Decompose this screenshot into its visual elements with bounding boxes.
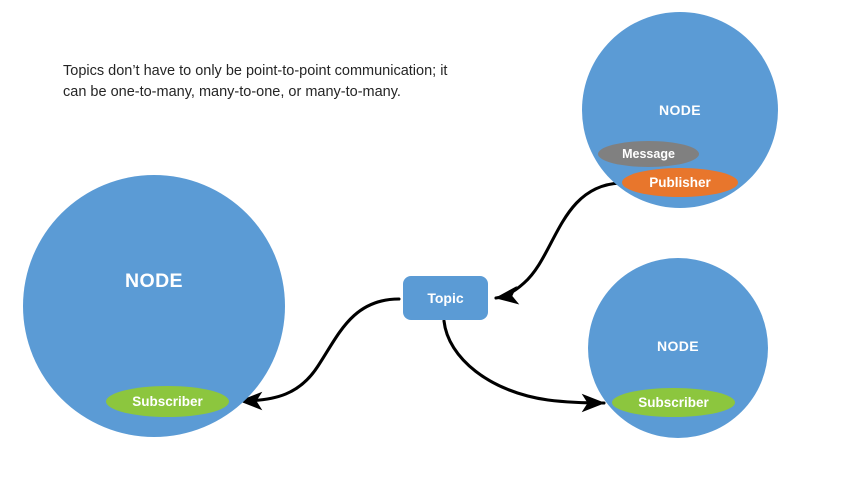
diagram-canvas: Topics don’t have to only be point-to-po… [0,0,854,480]
node-bottom-right-label: NODE [588,338,768,354]
node-left-label: NODE [23,270,285,293]
arrow-publisher-to-topic [496,183,620,298]
topic-box[interactable]: Topic [403,276,488,320]
node-top-right-label: NODE [582,102,778,118]
caption-text: Topics don’t have to only be point-to-po… [63,61,483,103]
arrow-topic-to-bottomright-subscriber [444,321,604,403]
publisher-ellipse[interactable]: Publisher [622,168,738,197]
subscriber-bottom-right[interactable]: Subscriber [612,388,735,417]
message-ellipse[interactable]: Message [598,141,699,167]
subscriber-left[interactable]: Subscriber [106,386,229,417]
